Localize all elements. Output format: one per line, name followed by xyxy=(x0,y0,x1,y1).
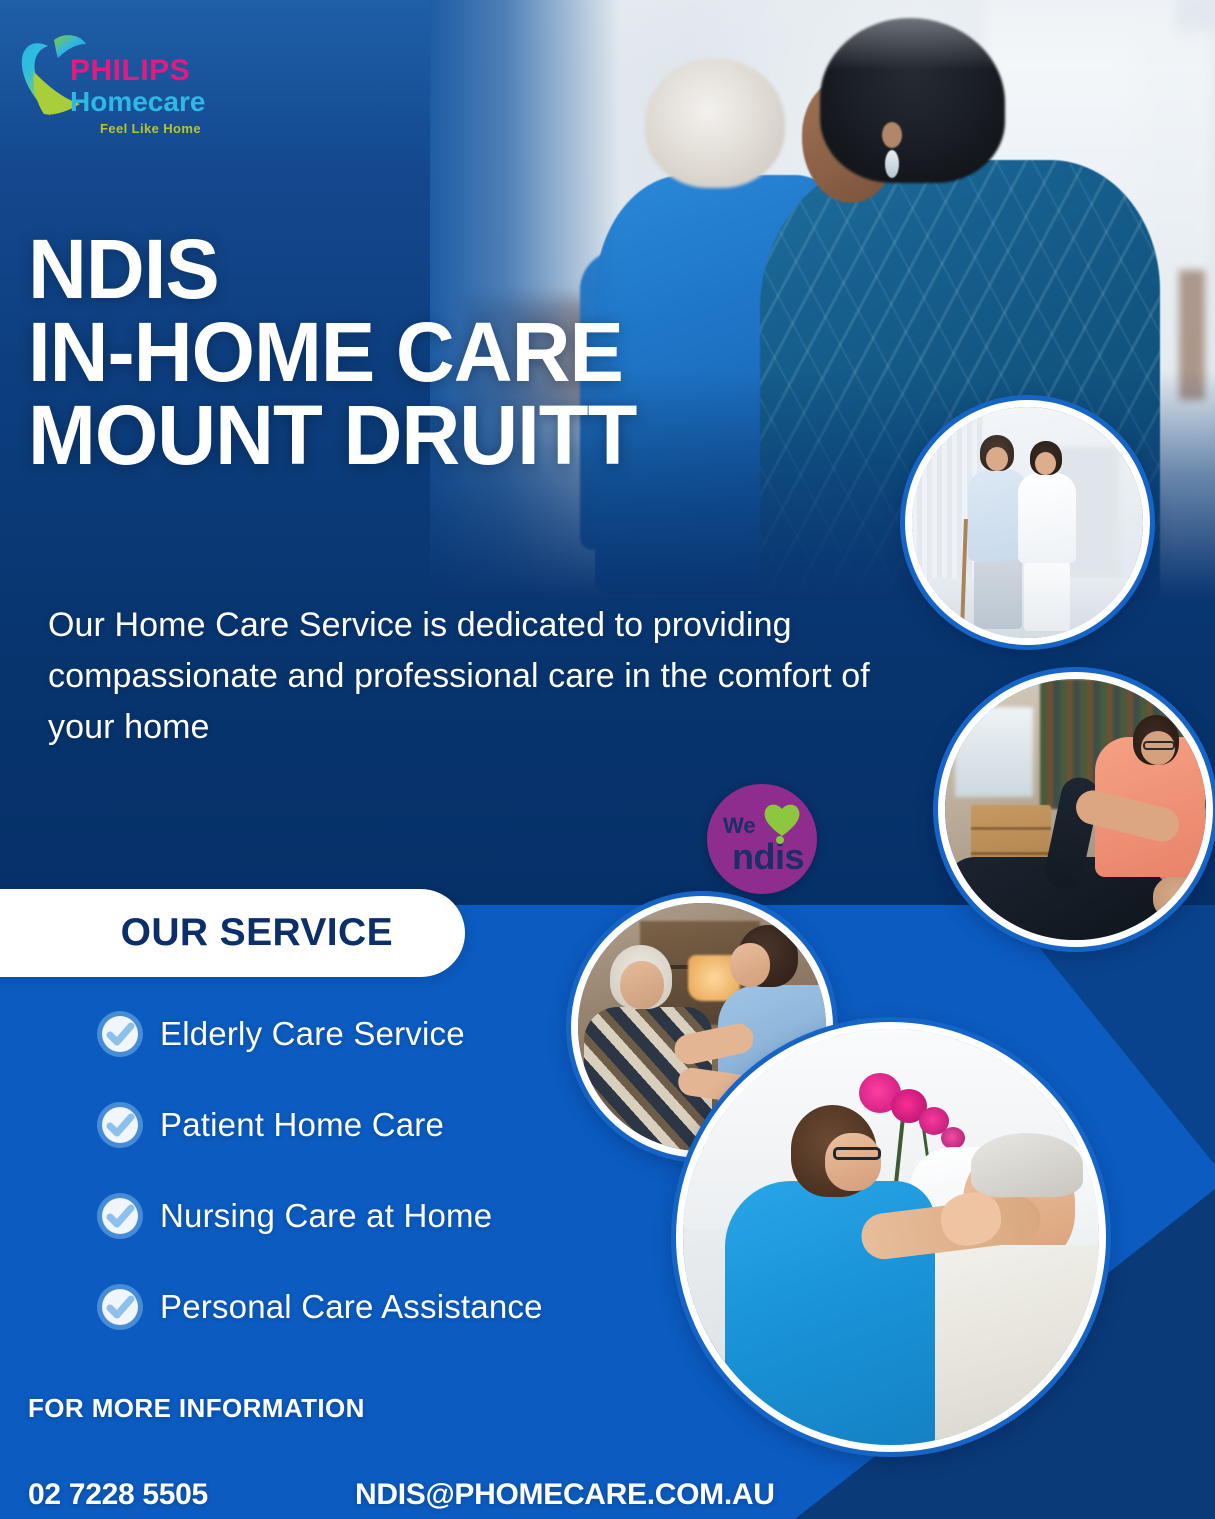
service-item-label: Patient Home Care xyxy=(160,1106,444,1144)
list-item[interactable]: Personal Care Assistance xyxy=(96,1283,656,1331)
list-item[interactable]: Nursing Care at Home xyxy=(96,1192,656,1240)
flyer-canvas: PHILIPS Homecare Feel Like Home NDIS IN-… xyxy=(0,0,1215,1519)
logo-brand-primary: PHILIPS xyxy=(70,56,250,86)
ndis-badge-word: ndis xyxy=(732,836,804,878)
photo-nurse-with-bedridden-patient xyxy=(676,1022,1106,1452)
service-item-label: Elderly Care Service xyxy=(160,1015,465,1053)
ndis-badge-dot xyxy=(776,836,784,844)
check-circle-icon xyxy=(96,1101,144,1149)
list-item[interactable]: Patient Home Care xyxy=(96,1101,656,1149)
footer-email[interactable]: NDIS@PHOMECARE.COM.AU xyxy=(355,1478,775,1512)
our-service-heading-text: OUR SERVICE xyxy=(121,911,393,955)
brand-logo[interactable]: PHILIPS Homecare Feel Like Home xyxy=(18,20,248,140)
service-item-label: Nursing Care at Home xyxy=(160,1197,492,1235)
service-list: Elderly Care Service Patient Home Care xyxy=(96,1010,656,1374)
heart-icon xyxy=(762,802,802,838)
headline-line-3: MOUNT DRUITT xyxy=(28,394,636,477)
logo-brand-secondary: Homecare xyxy=(70,86,250,118)
logo-tagline: Feel Like Home xyxy=(100,121,250,136)
headline-line-2: IN-HOME CARE xyxy=(28,311,636,394)
subtitle-text: Our Home Care Service is dedicated to pr… xyxy=(48,600,928,753)
photo-physio-therapy-session xyxy=(938,672,1213,947)
check-circle-icon xyxy=(96,1283,144,1331)
photo-elderly-walking-with-nurse xyxy=(905,400,1150,645)
check-circle-icon xyxy=(96,1010,144,1058)
footer-heading: FOR MORE INFORMATION xyxy=(28,1393,365,1424)
service-item-label: Personal Care Assistance xyxy=(160,1288,543,1326)
we-love-ndis-badge: We ndis xyxy=(707,784,817,894)
headline-line-1: NDIS xyxy=(28,228,636,311)
check-circle-icon xyxy=(96,1192,144,1240)
page-title: NDIS IN-HOME CARE MOUNT DRUITT xyxy=(28,228,636,477)
our-service-heading-pill: OUR SERVICE xyxy=(0,889,465,977)
footer-phone[interactable]: 02 7228 5505 xyxy=(28,1478,208,1512)
